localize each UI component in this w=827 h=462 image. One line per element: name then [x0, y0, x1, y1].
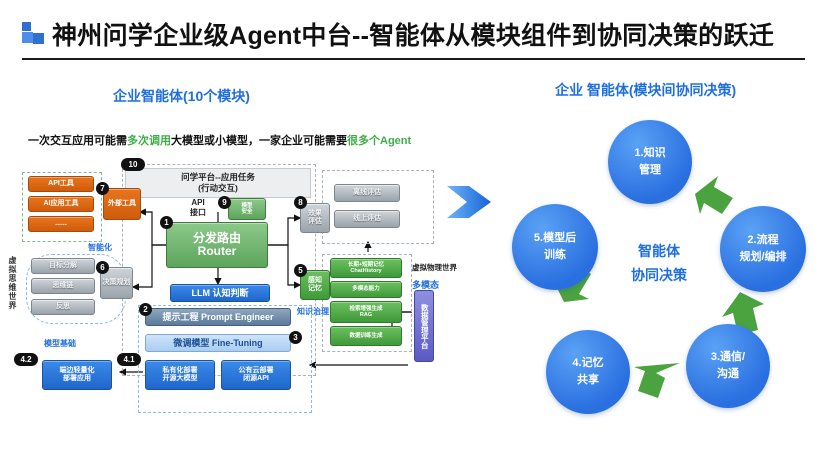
lead-part-2: 大模型或小模型，一家企业可能需要 — [171, 135, 347, 147]
cycle-node-1[interactable]: 1.知识 管理 — [608, 120, 692, 204]
cycle-center-label: 智能体 协同决策 — [597, 240, 721, 288]
lead-highlight-1: 多次调用 — [127, 135, 171, 147]
private-deploy-box[interactable]: 私有化部署 开源大模型 — [145, 360, 215, 390]
online-evaluation-box[interactable]: 线上评估 — [334, 210, 400, 228]
router-line-1: 分发路由 — [193, 232, 241, 245]
knowledge-governance-label: 知识治理 — [297, 306, 329, 317]
external-tool-box[interactable]: 外部工具 — [103, 188, 141, 220]
badge-7: 7 — [96, 182, 109, 195]
left-section-heading: 企业智能体(10个模块) — [113, 86, 250, 106]
cycle-node-4-line-2: 共享 — [577, 372, 599, 389]
perception-line-2: 记忆 — [308, 285, 322, 293]
cycle-node-1-line-1: 1.知识 — [634, 145, 665, 162]
cycle-node-3-line-2: 沟通 — [717, 366, 739, 383]
cycle-node-3-line-1: 3.通信/ — [711, 349, 745, 366]
fine-tuning-box[interactable]: 微调模型 Fine-Tuning — [145, 334, 291, 352]
tool-api[interactable]: API工具 — [28, 176, 94, 192]
prompt-engineer-box[interactable]: 提示工程 Prompt Engineer — [145, 308, 291, 326]
badge-4-1: 4.1 — [117, 353, 141, 366]
lead-highlight-2: 很多个Agent — [347, 135, 411, 147]
badge-6: 6 — [96, 261, 109, 274]
perception-line-1: 感知 — [308, 277, 322, 285]
external-tool-label: 外部工具 — [108, 200, 136, 208]
tool-more[interactable]: ...... — [28, 216, 94, 232]
data-management-platform-box[interactable]: 数据管理平台 — [414, 290, 434, 362]
thinking-goal-decomposition[interactable]: 目标分解 — [31, 258, 95, 274]
logo-squares-icon — [22, 22, 44, 44]
memory-data-training-box[interactable]: 数据训练生成 — [330, 326, 402, 346]
memory-item-0-line-2: ChatHistory — [350, 268, 381, 274]
thinking-reflection[interactable]: 反思 — [31, 299, 95, 315]
cycle-node-5[interactable]: 5.模型后 训练 — [512, 204, 598, 290]
cycle-node-3[interactable]: 3.通信/ 沟通 — [686, 324, 770, 408]
model-safety-box[interactable]: 模型 安全 — [228, 198, 266, 220]
badge-5: 5 — [294, 264, 307, 277]
api-interface-label: API 接口 — [190, 198, 206, 217]
badge-2: 2 — [139, 303, 152, 316]
edge-deploy-line-1: 端边轻量化 — [60, 367, 95, 375]
memory-rag-box[interactable]: 检索增强生成 RAG — [330, 301, 402, 323]
cycle-center-line-1: 智能体 — [597, 240, 721, 264]
memory-multimodal-box[interactable]: 多模态能力 — [330, 281, 402, 298]
edge-deploy-box[interactable]: 端边轻量化 部署应用 — [42, 360, 112, 390]
right-section-heading: 企业 智能体(模块间协同决策) — [555, 80, 736, 100]
evaluation-dashed-group — [322, 170, 434, 244]
edge-deploy-line-2: 部署应用 — [63, 375, 91, 383]
llm-cognition-box[interactable]: LLM 认知判断 — [170, 284, 270, 302]
effect-eval-line-1: 效果 — [308, 210, 322, 218]
cycle-node-2-line-2: 规划/编排 — [739, 249, 786, 266]
badge-9: 9 — [218, 196, 231, 209]
router-line-2: Router — [198, 245, 237, 258]
private-deploy-line-2: 开源大模型 — [163, 375, 198, 383]
public-deploy-line-1: 公有云部署 — [239, 367, 274, 375]
cycle-node-4-line-1: 4.记忆 — [572, 355, 603, 372]
badge-10: 10 — [121, 158, 145, 171]
cycle-center-line-2: 协同决策 — [597, 264, 721, 288]
badge-1: 1 — [160, 216, 173, 229]
offline-evaluation-box[interactable]: 离线评估 — [334, 184, 400, 202]
decision-planning-label: 决策规划 — [103, 279, 131, 287]
cycle-node-5-line-1: 5.模型后 — [534, 230, 576, 247]
model-safety-line-2: 安全 — [241, 209, 252, 215]
tool-ai-app[interactable]: AI应用工具 — [28, 196, 94, 212]
page-header: 神州问学企业级Agent中台--智能体从模块组件到协同决策的跃迁 — [0, 0, 827, 62]
cycle-node-2[interactable]: 2.流程 规划/编排 — [720, 206, 806, 292]
thinking-chain-of-thought[interactable]: 思维链 — [31, 278, 95, 294]
page-title: 神州问学企业级Agent中台--智能体从模块组件到协同决策的跃迁 — [52, 16, 774, 52]
model-base-label: 模型基础 — [44, 338, 76, 349]
virtual-mind-world-label: 虚拟思维世界 — [7, 256, 18, 310]
private-deploy-line-1: 私有化部署 — [163, 367, 198, 375]
virtual-physical-world-label: 虚拟物理世界 — [412, 262, 457, 273]
cycle-node-5-line-2: 训练 — [544, 247, 566, 264]
intelligence-label: 智能化 — [88, 242, 112, 253]
left-architecture-diagram: 问学平台--应用任务 (行动交互) API工具 AI应用工具 ...... 外部… — [0, 150, 460, 420]
blue-chevron-arrow-icon — [445, 176, 493, 228]
memory-item-2-line-2: RAG — [360, 312, 372, 318]
lead-part-1: 一次交互应用可能需 — [28, 135, 127, 147]
badge-4-2: 4.2 — [14, 353, 38, 366]
header-divider — [22, 58, 805, 60]
cycle-node-4[interactable]: 4.记忆 共享 — [546, 330, 630, 414]
badge-8: 8 — [294, 196, 307, 209]
public-cloud-deploy-box[interactable]: 公有云部署 闭源API — [221, 360, 291, 390]
public-deploy-line-2: 闭源API — [243, 375, 269, 383]
memory-chathistory-box[interactable]: 长期+短期记忆 ChatHistory — [330, 258, 402, 278]
cycle-node-1-line-2: 管理 — [639, 162, 661, 179]
router-box[interactable]: 分发路由 Router — [166, 222, 268, 268]
effect-eval-line-2: 评估 — [308, 218, 322, 226]
lead-sentence: 一次交互应用可能需多次调用大模型或小模型，一家企业可能需要很多个Agent — [28, 132, 411, 148]
badge-3: 3 — [289, 331, 302, 344]
collaboration-cycle-diagram: 1.知识 管理 2.流程 规划/编排 3.通信/ 沟通 4.记忆 共享 5.模型… — [490, 118, 827, 444]
cycle-node-2-line-1: 2.流程 — [747, 232, 778, 249]
